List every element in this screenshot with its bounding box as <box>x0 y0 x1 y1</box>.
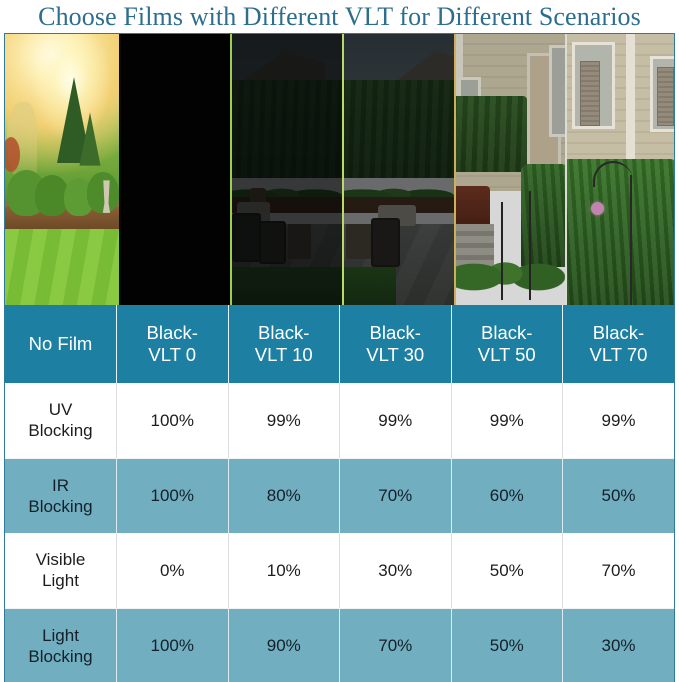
cell-value: 50% <box>451 533 563 608</box>
row-label-uv-blocking: UV Blocking <box>5 383 117 458</box>
cell-value: 0% <box>117 533 229 608</box>
cell-value: 90% <box>228 608 340 682</box>
vlt30-patio-photo <box>342 34 454 305</box>
cell-value: 30% <box>340 533 452 608</box>
panel-divider <box>230 34 232 305</box>
cell-value: 100% <box>117 383 229 458</box>
vlt0-black-photo <box>119 34 230 305</box>
cell-value: 99% <box>563 383 675 458</box>
table-row: UV Blocking 100% 99% 99% 99% 99% <box>5 383 674 458</box>
row-label-light-blocking: Light Blocking <box>5 608 117 682</box>
column-header-vlt50: Black- VLT 50 <box>451 305 563 383</box>
no-film-garden-photo <box>5 34 119 305</box>
cell-value: 70% <box>340 458 452 533</box>
cell-value: 50% <box>451 608 563 682</box>
table-header-row: No Film Black- VLT 0 Black- VLT 10 Black… <box>5 305 674 383</box>
blackout-scene <box>119 34 230 305</box>
cell-value: 99% <box>451 383 563 458</box>
cell-value: 50% <box>563 458 675 533</box>
column-header-vlt0: Black- VLT 0 <box>117 305 229 383</box>
column-header-no-film: No Film <box>5 305 117 383</box>
cell-value: 70% <box>563 533 675 608</box>
vlt10-patio-photo <box>230 34 342 305</box>
cell-value: 70% <box>340 608 452 682</box>
comparison-table: No Film Black- VLT 0 Black- VLT 10 Black… <box>4 33 675 682</box>
cell-value: 30% <box>563 608 675 682</box>
panel-divider <box>119 34 121 305</box>
cell-value: 100% <box>117 608 229 682</box>
cell-value: 100% <box>117 458 229 533</box>
cell-value: 10% <box>228 533 340 608</box>
column-header-vlt10: Black- VLT 10 <box>228 305 340 383</box>
sample-image-strip <box>5 34 674 305</box>
tint-veil <box>454 34 565 305</box>
cell-value: 99% <box>228 383 340 458</box>
column-header-vlt30: Black- VLT 30 <box>340 305 452 383</box>
tint-veil <box>5 34 119 305</box>
row-label-ir-blocking: IR Blocking <box>5 458 117 533</box>
tint-veil <box>565 34 674 305</box>
table-row: Visible Light 0% 10% 30% 50% 70% <box>5 533 674 608</box>
column-header-vlt70: Black- VLT 70 <box>563 305 675 383</box>
row-label-visible-light: Visible Light <box>5 533 117 608</box>
table-row: Light Blocking 100% 90% 70% 50% 30% <box>5 608 674 682</box>
tint-veil <box>230 34 342 305</box>
cell-value: 60% <box>451 458 563 533</box>
cell-value: 80% <box>228 458 340 533</box>
tint-veil <box>342 34 454 305</box>
panel-divider <box>454 34 456 305</box>
vlt50-house-photo <box>454 34 565 305</box>
panel-divider <box>342 34 344 305</box>
table-row: IR Blocking 100% 80% 70% 60% 50% <box>5 458 674 533</box>
cell-value: 99% <box>340 383 452 458</box>
vlt70-house-photo <box>565 34 674 305</box>
page-title-bar: Choose Films with Different VLT for Diff… <box>0 0 679 33</box>
panel-divider <box>565 34 567 305</box>
vlt-spec-table: No Film Black- VLT 0 Black- VLT 10 Black… <box>5 305 674 682</box>
page-title: Choose Films with Different VLT for Diff… <box>38 2 641 32</box>
